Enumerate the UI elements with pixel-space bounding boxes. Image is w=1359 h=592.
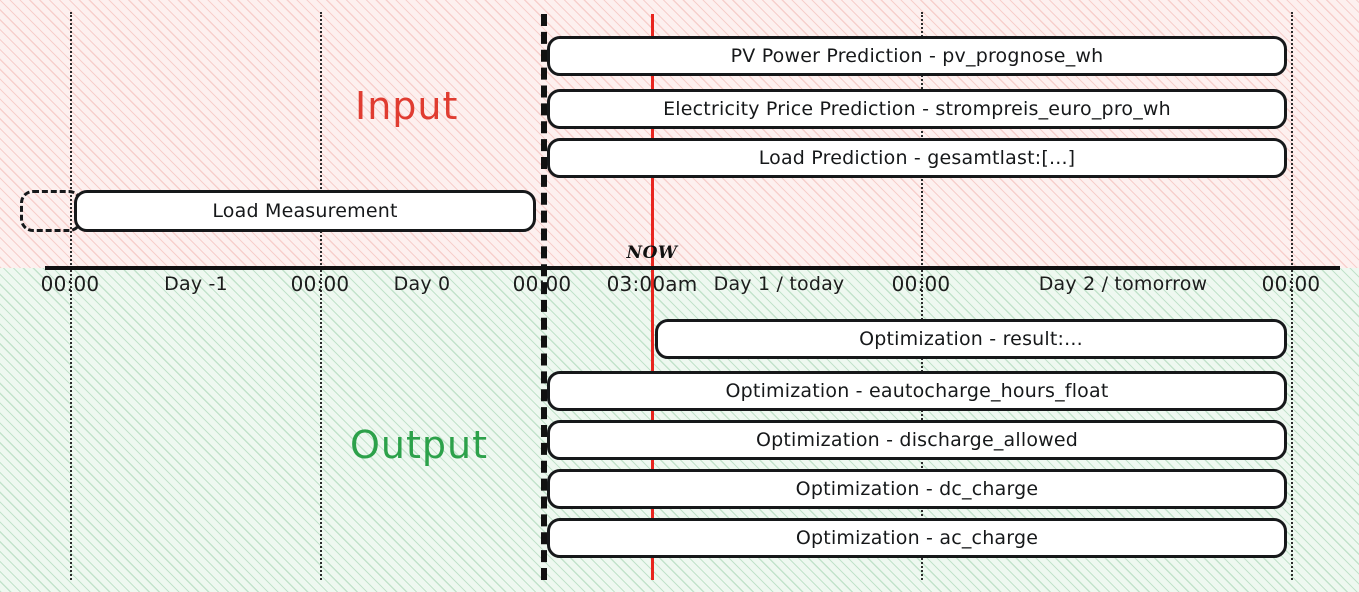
axis-tick-3: Day 0 — [394, 273, 451, 295]
bar-electricity-price-prediction[interactable]: Electricity Price Prediction - stromprei… — [547, 89, 1287, 129]
now-label: NOW — [627, 243, 678, 263]
input-section-caption: Input — [355, 84, 458, 128]
axis-tick-4: 00:00 — [513, 272, 572, 296]
bar-label: Optimization - result:... — [859, 328, 1083, 350]
bar-label: Load Measurement — [212, 200, 397, 222]
bar-label: Optimization - dc_charge — [796, 478, 1039, 500]
axis-tick-1: Day -1 — [164, 273, 228, 295]
axis-tick-2: 00:00 — [291, 272, 350, 296]
guide-day3-start — [1291, 12, 1293, 268]
bar-label: Optimization - ac_charge — [796, 527, 1038, 549]
bar-label: PV Power Prediction - pv_prognose_wh — [731, 45, 1104, 67]
axis-tick-0: 00:00 — [41, 272, 100, 296]
bar-optimization-ac-charge[interactable]: Optimization - ac_charge — [547, 518, 1287, 558]
bar-label: Optimization - discharge_allowed — [756, 429, 1078, 451]
bar-label: Electricity Price Prediction - stromprei… — [663, 98, 1171, 120]
axis-tick-7: 00:00 — [892, 272, 951, 296]
bar-load-measurement-continuation — [20, 190, 82, 232]
axis-tick-now: 03:00am — [607, 272, 698, 296]
time-axis — [45, 266, 1340, 270]
bar-optimization-result[interactable]: Optimization - result:... — [655, 319, 1287, 359]
guide-day3-start-lower — [1291, 270, 1293, 580]
output-section-caption: Output — [350, 423, 488, 467]
bar-optimization-dc-charge[interactable]: Optimization - dc_charge — [547, 469, 1287, 509]
bar-load-measurement[interactable]: Load Measurement — [74, 190, 536, 232]
axis-tick-9: 00:00 — [1262, 272, 1321, 296]
axis-tick-6: Day 1 / today — [714, 273, 845, 295]
bar-load-prediction[interactable]: Load Prediction - gesamtlast:[...] — [547, 138, 1287, 178]
guide-day0-start-lower — [320, 270, 322, 580]
guide-day-minus1-start-lower — [70, 270, 72, 580]
bar-label: Load Prediction - gesamtlast:[...] — [759, 147, 1076, 169]
timeline-diagram: PV Power Prediction - pv_prognose_wh Ele… — [0, 0, 1359, 592]
bar-pv-power-prediction[interactable]: PV Power Prediction - pv_prognose_wh — [547, 36, 1287, 76]
bar-optimization-eautocharge-hours-float[interactable]: Optimization - eautocharge_hours_float — [547, 371, 1287, 411]
bar-optimization-discharge-allowed[interactable]: Optimization - discharge_allowed — [547, 420, 1287, 460]
axis-tick-8: Day 2 / tomorrow — [1039, 273, 1208, 295]
bar-label: Optimization - eautocharge_hours_float — [726, 380, 1109, 402]
